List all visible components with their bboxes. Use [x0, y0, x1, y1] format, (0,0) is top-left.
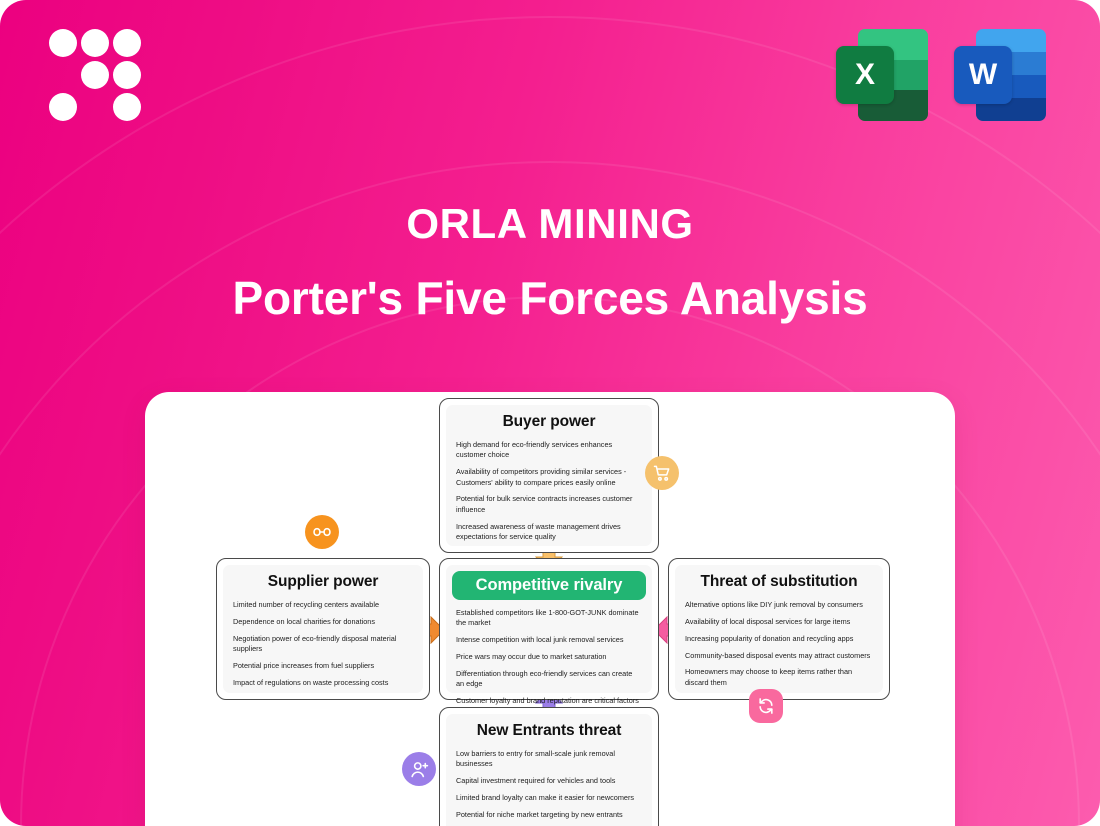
force-title-competitive-rivalry: Competitive rivalry — [452, 571, 646, 600]
force-box-buyer-power[interactable]: Buyer power High demand for eco-friendly… — [439, 398, 659, 553]
company-name: ORLA MINING — [0, 200, 1100, 248]
force-point: Established competitors like 1-800-GOT-J… — [456, 608, 642, 629]
word-icon[interactable]: W — [954, 29, 1046, 121]
force-box-new-entrants-threat[interactable]: New Entrants threat Low barriers to entr… — [439, 707, 659, 826]
force-point: Homeowners may choose to keep items rath… — [685, 667, 873, 688]
force-point: Increased awareness of waste management … — [456, 522, 642, 543]
logo-dot-5 — [113, 61, 141, 89]
dot-grid-logo — [49, 29, 141, 121]
force-point: Capital investment required for vehicles… — [456, 776, 642, 786]
force-point: Low barriers to entry for small-scale ju… — [456, 749, 642, 770]
force-points-threat-of-substitution: Alternative options like DIY junk remova… — [685, 600, 873, 688]
force-point: Availability of local disposal services … — [685, 617, 873, 627]
force-points-new-entrants-threat: Low barriers to entry for small-scale ju… — [456, 749, 642, 826]
force-title-new-entrants-threat: New Entrants threat — [456, 722, 642, 740]
force-points-competitive-rivalry: Established competitors like 1-800-GOT-J… — [456, 608, 642, 707]
force-point: Potential for niche market targeting by … — [456, 810, 642, 820]
logo-dot-1 — [49, 29, 77, 57]
logo-dot-4 — [81, 61, 109, 89]
logo-dot-7 — [113, 93, 141, 121]
force-box-threat-of-substitution[interactable]: Threat of substitution Alternative optio… — [668, 558, 890, 700]
force-point: Potential price increases from fuel supp… — [233, 661, 413, 671]
diagram-card: Buyer power High demand for eco-friendly… — [145, 392, 955, 826]
force-point: Availability of competitors providing si… — [456, 467, 642, 488]
force-point: Dependence on local charities for donati… — [233, 617, 413, 627]
logo-dot-2 — [81, 29, 109, 57]
force-point: Limited number of recycling centers avai… — [233, 600, 413, 610]
force-point: Alternative options like DIY junk remova… — [685, 600, 873, 610]
logo-gap-1 — [49, 61, 77, 89]
link-chain-icon[interactable] — [305, 515, 339, 549]
five-forces-diagram: Buyer power High demand for eco-friendly… — [145, 392, 955, 826]
force-box-inner: Supplier power Limited number of recycli… — [223, 565, 423, 693]
force-box-competitive-rivalry[interactable]: Competitive rivalry Established competit… — [439, 558, 659, 700]
force-box-inner: Competitive rivalry Established competit… — [446, 565, 652, 693]
excel-letter-tile: X — [836, 46, 894, 104]
logo-dot-6 — [49, 93, 77, 121]
force-point: Increasing popularity of donation and re… — [685, 634, 873, 644]
force-point: Negotiation power of eco-friendly dispos… — [233, 634, 413, 655]
force-box-inner: Threat of substitution Alternative optio… — [675, 565, 883, 693]
shopping-cart-icon[interactable] — [645, 456, 679, 490]
force-point: Intense competition with local junk remo… — [456, 635, 642, 645]
force-title-supplier-power: Supplier power — [233, 573, 413, 591]
force-box-supplier-power[interactable]: Supplier power Limited number of recycli… — [216, 558, 430, 700]
force-title-threat-of-substitution: Threat of substitution — [685, 573, 873, 591]
force-point: High demand for eco-friendly services en… — [456, 440, 642, 461]
force-point: Differentiation through eco-friendly ser… — [456, 669, 642, 690]
force-point: Impact of regulations on waste processin… — [233, 678, 413, 688]
force-point: Limited brand loyalty can make it easier… — [456, 793, 642, 803]
force-point: Customer loyalty and brand reputation ar… — [456, 696, 642, 706]
force-points-supplier-power: Limited number of recycling centers avai… — [233, 600, 413, 688]
force-point: Community-based disposal events may attr… — [685, 651, 873, 661]
office-export-icons: X W — [836, 29, 1046, 121]
logo-gap-2 — [81, 93, 109, 121]
slide-canvas: X W ORLA MINING Porter's Five Forces Ana… — [0, 0, 1100, 826]
recycle-refresh-icon[interactable] — [749, 689, 783, 723]
force-box-inner: Buyer power High demand for eco-friendly… — [446, 405, 652, 546]
force-box-inner: New Entrants threat Low barriers to entr… — [446, 714, 652, 826]
title-block: ORLA MINING Porter's Five Forces Analysi… — [0, 200, 1100, 325]
word-letter-tile: W — [954, 46, 1012, 104]
excel-icon[interactable]: X — [836, 29, 928, 121]
force-points-buyer-power: High demand for eco-friendly services en… — [456, 440, 642, 542]
page-title: Porter's Five Forces Analysis — [0, 272, 1100, 325]
logo-dot-3 — [113, 29, 141, 57]
force-point: Potential for bulk service contracts inc… — [456, 494, 642, 515]
force-point: Price wars may occur due to market satur… — [456, 652, 642, 662]
add-user-icon[interactable] — [402, 752, 436, 786]
force-title-buyer-power: Buyer power — [456, 413, 642, 431]
